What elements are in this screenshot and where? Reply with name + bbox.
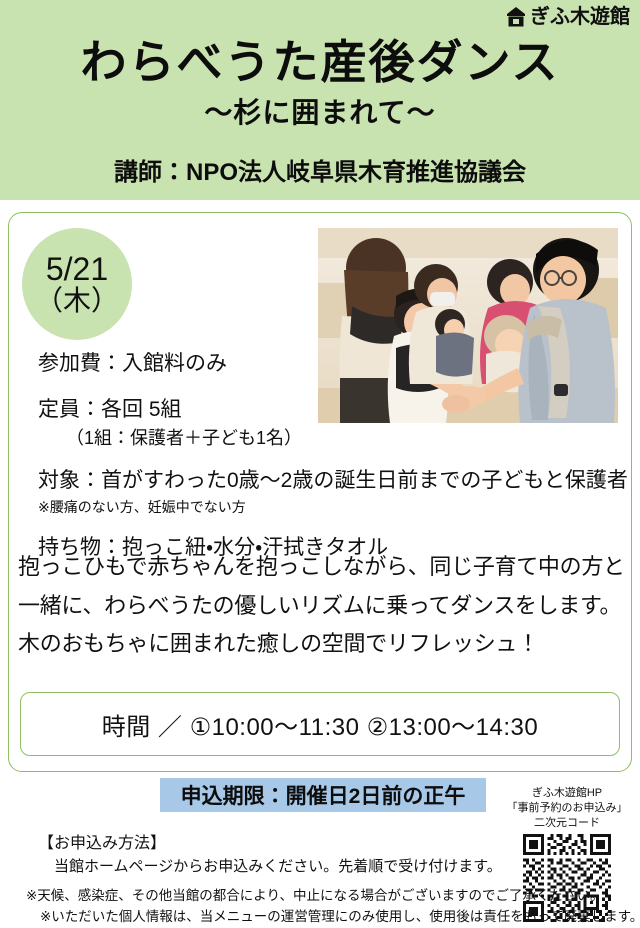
info-target-note: ※腰痛のない方、妊娠中でない方 — [38, 497, 618, 518]
info-target: 対象：首がすわった0歳～2歳の誕生日前までの子どもと保護者 — [38, 465, 618, 497]
deadline-banner: 申込期限：開催日2日前の正午 — [160, 778, 486, 812]
qr-caption-line-3: 二次元コード — [502, 816, 632, 831]
qr-caption-line-2: 「事前予約のお申込み」 — [502, 801, 632, 816]
apply-method-block: 【お申込み方法】 当館ホームページからお申込みください。先着順で受け付けます。 — [38, 832, 558, 879]
deadline-text: 申込期限：開催日2日前の正午 — [181, 780, 466, 810]
footer-note-2: ※いただいた個人情報は、当メニューの運営管理にのみ使用し、使用後は責任をもって廃… — [26, 907, 640, 928]
footer-note-1: ※天候、感染症、その他当館の都合により、中止になる場合がございますのでご了承くだ… — [26, 886, 640, 907]
site-logo: ぎふ木遊館 — [505, 6, 630, 28]
info-capacity-note: （1組：保護者＋子ども1名） — [38, 425, 618, 451]
apply-body: 当館ホームページからお申込みください。先着順で受け付けます。 — [38, 856, 558, 879]
date-badge: 5/21 （木） — [22, 228, 132, 340]
description-line-1: 抱っこひもで赤ちゃんを抱っこしながら、同じ子育て中の方と — [18, 548, 628, 587]
instructor-line: 講師：NPO法人岐阜県木育推進協議会 — [0, 152, 640, 187]
date-badge-date: 5/21 — [46, 253, 108, 285]
description-line-3: 木のおもちゃに囲まれた癒しの空間でリフレッシュ！ — [18, 625, 628, 664]
footer-notes: ※天候、感染症、その他当館の都合により、中止になる場合がございますのでご了承くだ… — [26, 886, 640, 928]
time-text: 時間 ／ ①10:00～11:30 ②13:00～14:30 — [102, 707, 539, 742]
header-band: ぎふ木遊館 わらべうた産後ダンス ～杉に囲まれて～ 講師：NPO法人岐阜県木育推… — [0, 0, 640, 200]
event-description: 抱っこひもで赤ちゃんを抱っこしながら、同じ子育て中の方と 一緒に、わらべうたの優… — [18, 548, 628, 664]
info-capacity: 定員：各回 5組 — [38, 394, 618, 426]
description-line-2: 一緒に、わらべうたの優しいリズムに乗ってダンスをします。 — [18, 587, 628, 626]
event-info-list: 参加費：入館料のみ 定員：各回 5組 （1組：保護者＋子ども1名） 対象：首がす… — [38, 348, 618, 563]
apply-title: 【お申込み方法】 — [38, 832, 558, 856]
house-logo-icon — [505, 6, 527, 28]
date-badge-weekday: （木） — [35, 287, 119, 315]
page-title: わらべうた産後ダンス — [0, 38, 640, 86]
logo-text: ぎふ木遊館 — [530, 7, 630, 27]
time-box: 時間 ／ ①10:00～11:30 ②13:00～14:30 — [20, 692, 620, 756]
qr-caption-line-1: ぎふ木遊館HP — [502, 786, 632, 801]
page-subtitle: ～杉に囲まれて～ — [0, 98, 640, 129]
info-fee: 参加費：入館料のみ — [38, 348, 618, 380]
